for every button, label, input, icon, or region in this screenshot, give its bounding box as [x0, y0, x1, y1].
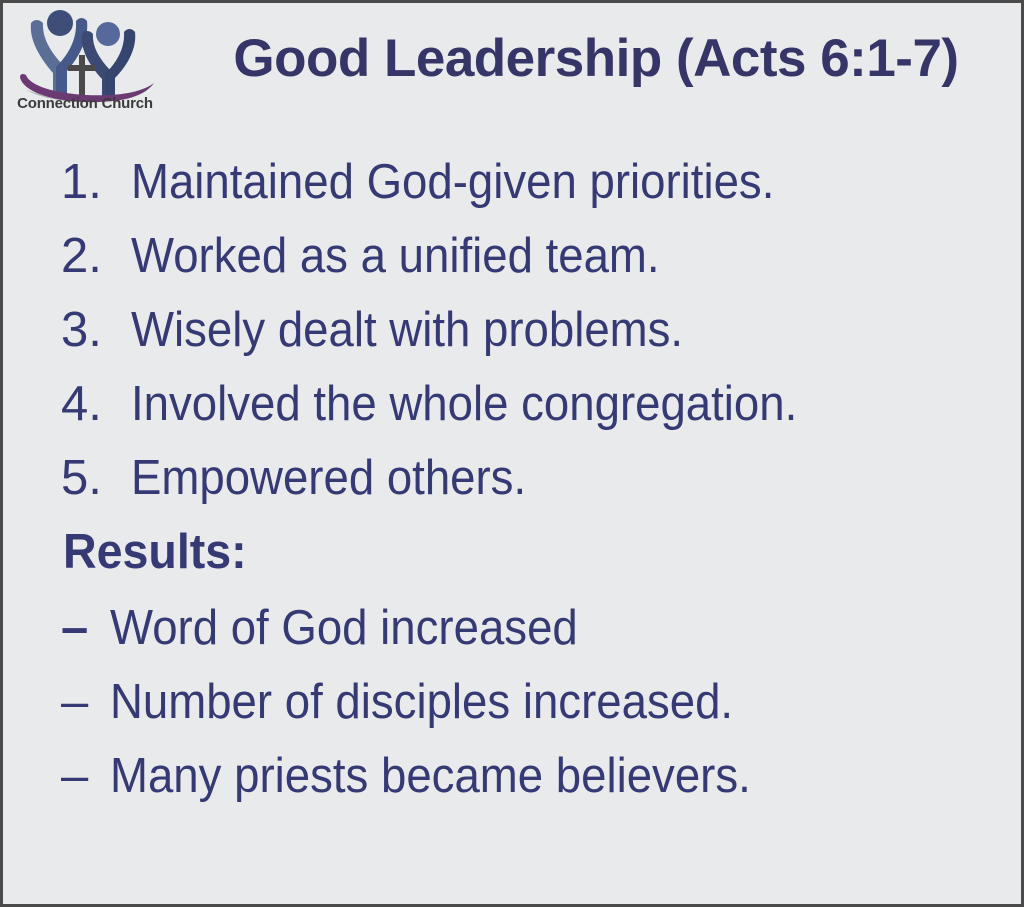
list-marker: 2. — [61, 219, 102, 293]
logo-caption: Connection Church — [9, 95, 161, 112]
connection-church-logo: Connection Church — [9, 7, 161, 121]
slide-body: 1. Maintained God-given priorities. 2. W… — [3, 145, 1024, 813]
list-item-text: Wisely dealt with problems. — [131, 293, 683, 367]
dash-marker: – — [61, 739, 88, 813]
dash-marker: – — [61, 665, 88, 739]
list-item: – Word of God increased — [3, 591, 1024, 665]
list-item-text: Worked as a unified team. — [131, 219, 660, 293]
list-item: 2. Worked as a unified team. — [3, 219, 1024, 293]
list-marker: 4. — [61, 367, 102, 441]
results-heading-text: Results: — [63, 515, 247, 589]
figure-left-head — [47, 10, 73, 36]
list-marker: 3. — [61, 293, 102, 367]
list-item: 5. Empowered others. — [3, 441, 1024, 515]
list-item-text: Empowered others. — [131, 441, 526, 515]
results-heading: Results: — [3, 515, 1024, 591]
list-item: 4. Involved the whole congregation. — [3, 367, 1024, 441]
list-item: 1. Maintained God-given priorities. — [3, 145, 1024, 219]
list-item: – Number of disciples increased. — [3, 665, 1024, 739]
list-marker: 1. — [61, 145, 102, 219]
list-item: – Many priests became believers. — [3, 739, 1024, 813]
dash-marker: – — [61, 591, 88, 665]
list-item: 3. Wisely dealt with problems. — [3, 293, 1024, 367]
cross-icon-vertical — [79, 55, 85, 95]
list-marker: 5. — [61, 441, 102, 515]
list-item-text: Involved the whole congregation. — [131, 367, 797, 441]
list-item-text: Many priests became believers. — [110, 739, 751, 813]
cross-icon-horizontal — [68, 65, 96, 71]
slide-title: Good Leadership (Acts 6:1-7) — [181, 29, 1011, 89]
list-item-text: Number of disciples increased. — [110, 665, 733, 739]
list-item-text: Word of God increased — [110, 591, 578, 665]
presentation-slide: Connection Church Good Leadership (Acts … — [0, 0, 1024, 907]
figure-right-head — [96, 22, 120, 46]
list-item-text: Maintained God-given priorities. — [131, 145, 774, 219]
